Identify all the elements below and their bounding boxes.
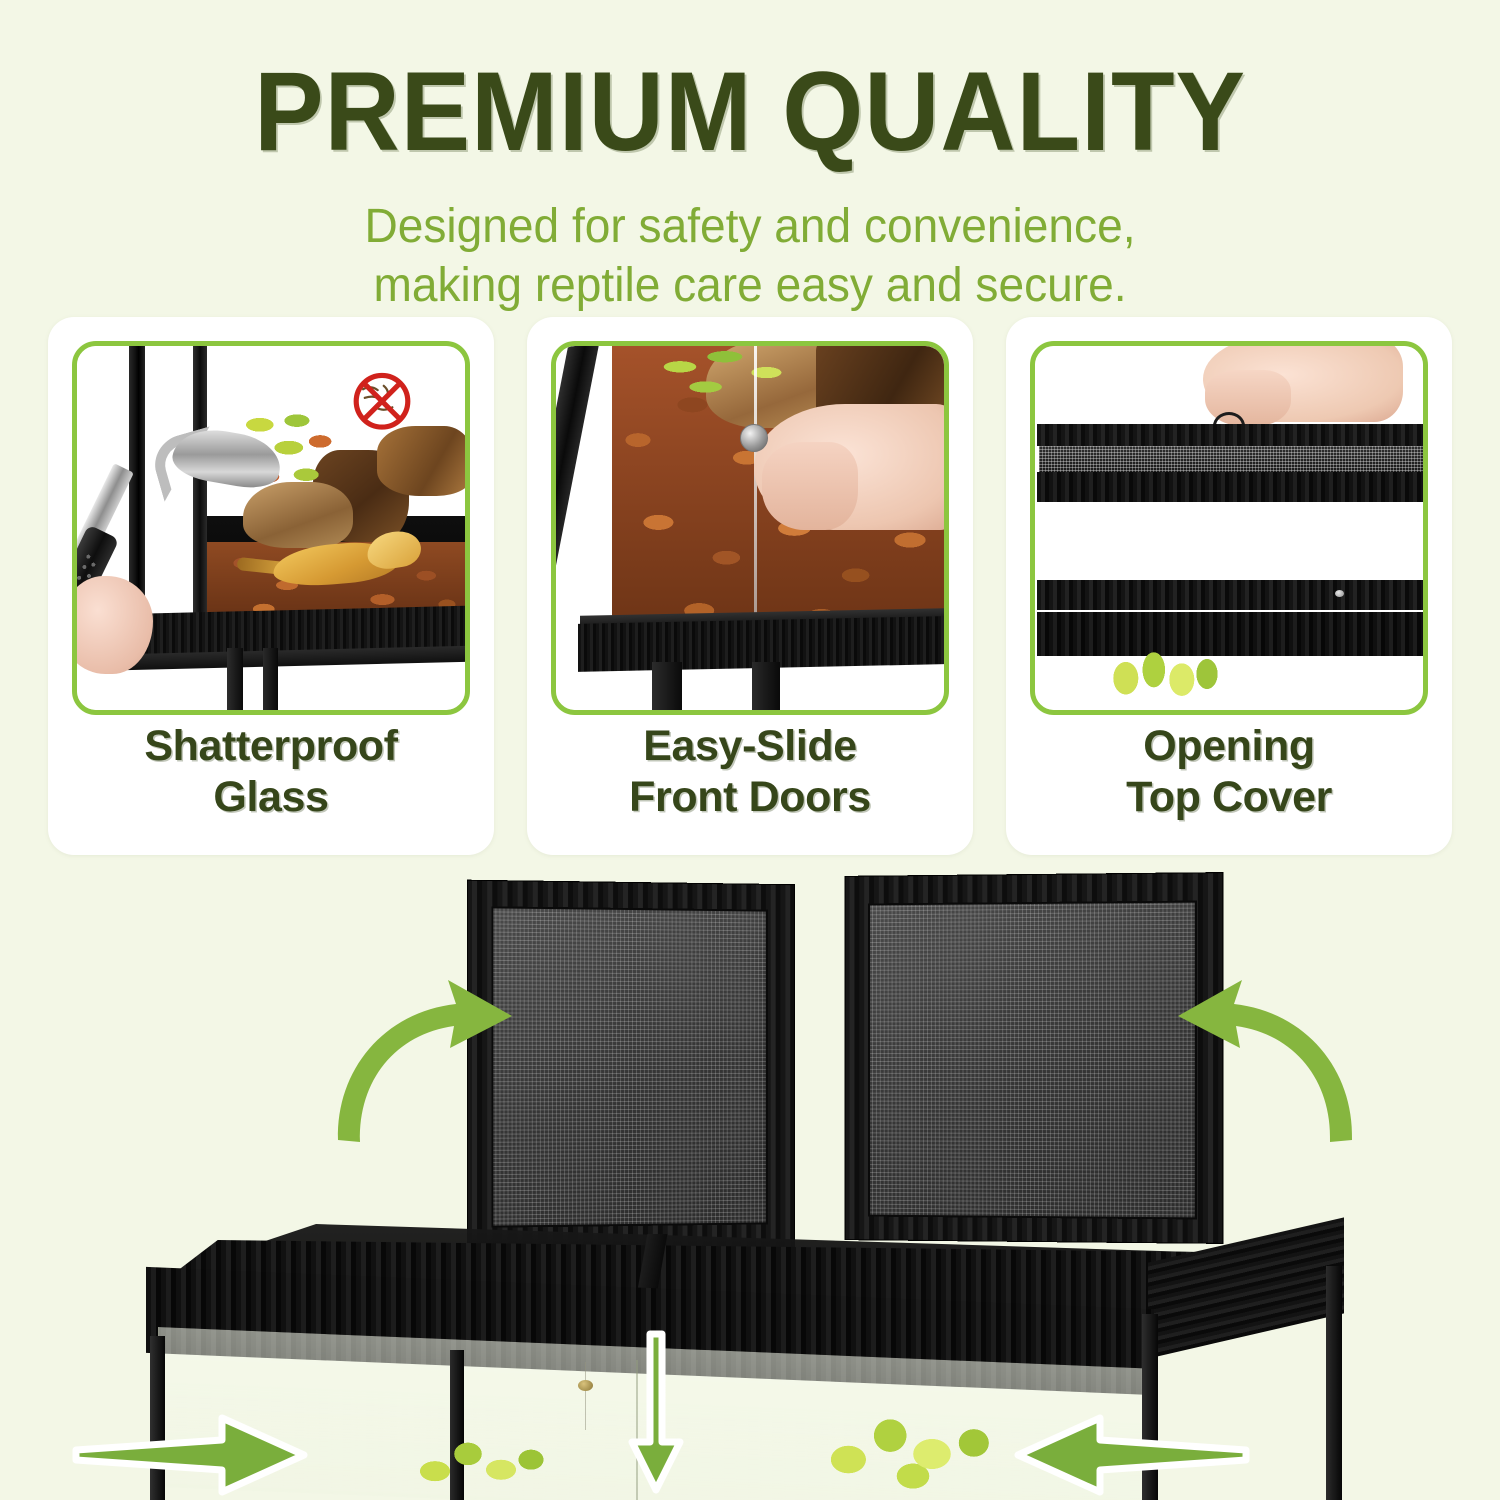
subtitle-line-1: Designed for safety and convenience, <box>30 198 1470 257</box>
mesh-screen-icon <box>1039 446 1423 474</box>
feature-card-shatterproof-glass[interactable]: Shatterproof Glass <box>48 317 494 855</box>
feature-card-label: Shatterproof Glass <box>48 721 494 822</box>
tank-rear-post <box>1326 1266 1342 1500</box>
feature-card-label: Easy-Slide Front Doors <box>527 721 973 822</box>
card-label-line-2: Top Cover <box>1006 772 1452 823</box>
fake-plant-decor <box>1095 646 1235 710</box>
feature-card-opening-top-cover[interactable]: Opening Top Cover <box>1006 317 1452 855</box>
page-subtitle: Designed for safety and convenience, mak… <box>30 198 1470 315</box>
card-label-line-2: Glass <box>48 772 494 823</box>
no-shatter-prohibition-icon <box>339 360 425 446</box>
page-title: PREMIUM QUALITY <box>53 56 1448 168</box>
arrow-slide-left-icon <box>1000 1412 1250 1498</box>
feature-photo-frame <box>72 341 470 715</box>
subtitle-line-2: making reptile care easy and secure. <box>30 257 1470 316</box>
opening-top-cover-photo <box>1035 346 1423 710</box>
feature-photo-frame <box>551 341 949 715</box>
easy-slide-doors-photo <box>556 346 944 710</box>
front-door-knob[interactable] <box>578 1380 593 1391</box>
arrow-to-left-lid-icon <box>330 960 530 1160</box>
fake-plant-decor <box>408 1428 558 1500</box>
feature-card-label: Opening Top Cover <box>1006 721 1452 822</box>
feature-card-easy-slide-front-doors[interactable]: Easy-Slide Front Doors <box>527 317 973 855</box>
feature-photo-frame <box>1030 341 1428 715</box>
shatterproof-glass-photo <box>77 346 465 710</box>
feature-card-row: Shatterproof Glass <box>48 317 1452 855</box>
card-label-line-1: Shatterproof <box>48 721 494 772</box>
infographic-page: PREMIUM QUALITY Designed for safety and … <box>0 0 1500 1500</box>
fake-plant-decor <box>648 346 808 410</box>
right-screen-lid-mesh <box>868 901 1197 1220</box>
card-label-line-2: Front Doors <box>527 772 973 823</box>
arrow-to-front-door-down-icon <box>620 1330 692 1500</box>
fake-plant-decor <box>818 1408 1008 1500</box>
card-label-line-1: Opening <box>1006 721 1452 772</box>
left-screen-lid-mesh <box>491 906 768 1227</box>
card-label-line-1: Easy-Slide <box>527 721 973 772</box>
arrow-to-right-lid-icon <box>1150 960 1360 1160</box>
door-knob-icon <box>740 424 768 452</box>
arrow-slide-right-icon <box>72 1412 312 1498</box>
